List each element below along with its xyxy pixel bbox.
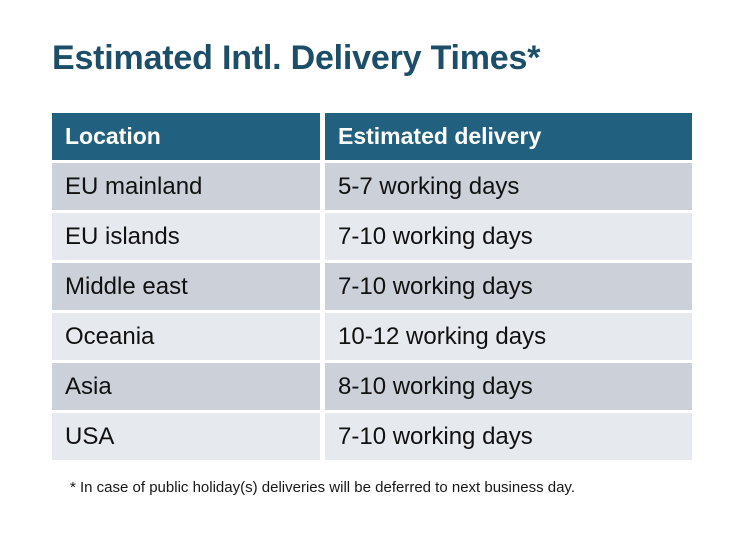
table-row: Middle east 7-10 working days [52, 263, 692, 310]
table-row: Oceania 10-12 working days [52, 313, 692, 360]
cell-delivery: 10-12 working days [325, 313, 692, 360]
column-header-location: Location [52, 113, 320, 160]
cell-location: EU mainland [52, 163, 320, 210]
cell-location: Oceania [52, 313, 320, 360]
cell-location: EU islands [52, 213, 320, 260]
table-row: EU islands 7-10 working days [52, 213, 692, 260]
cell-delivery: 7-10 working days [325, 413, 692, 460]
cell-delivery: 5-7 working days [325, 163, 692, 210]
cell-delivery: 7-10 working days [325, 263, 692, 310]
cell-location: USA [52, 413, 320, 460]
table-header-row: Location Estimated delivery [52, 113, 692, 160]
delivery-times-table: Location Estimated delivery EU mainland … [52, 113, 692, 460]
cell-delivery: 7-10 working days [325, 213, 692, 260]
table-row: EU mainland 5-7 working days [52, 163, 692, 210]
page-title: Estimated Intl. Delivery Times* [52, 36, 540, 80]
delivery-times-page: Estimated Intl. Delivery Times* Location… [0, 0, 745, 536]
cell-location: Middle east [52, 263, 320, 310]
table-row: Asia 8-10 working days [52, 363, 692, 410]
table-row: USA 7-10 working days [52, 413, 692, 460]
column-header-estimated-delivery: Estimated delivery [325, 113, 692, 160]
cell-delivery: 8-10 working days [325, 363, 692, 410]
cell-location: Asia [52, 363, 320, 410]
footnote-text: * In case of public holiday(s) deliverie… [70, 478, 575, 498]
